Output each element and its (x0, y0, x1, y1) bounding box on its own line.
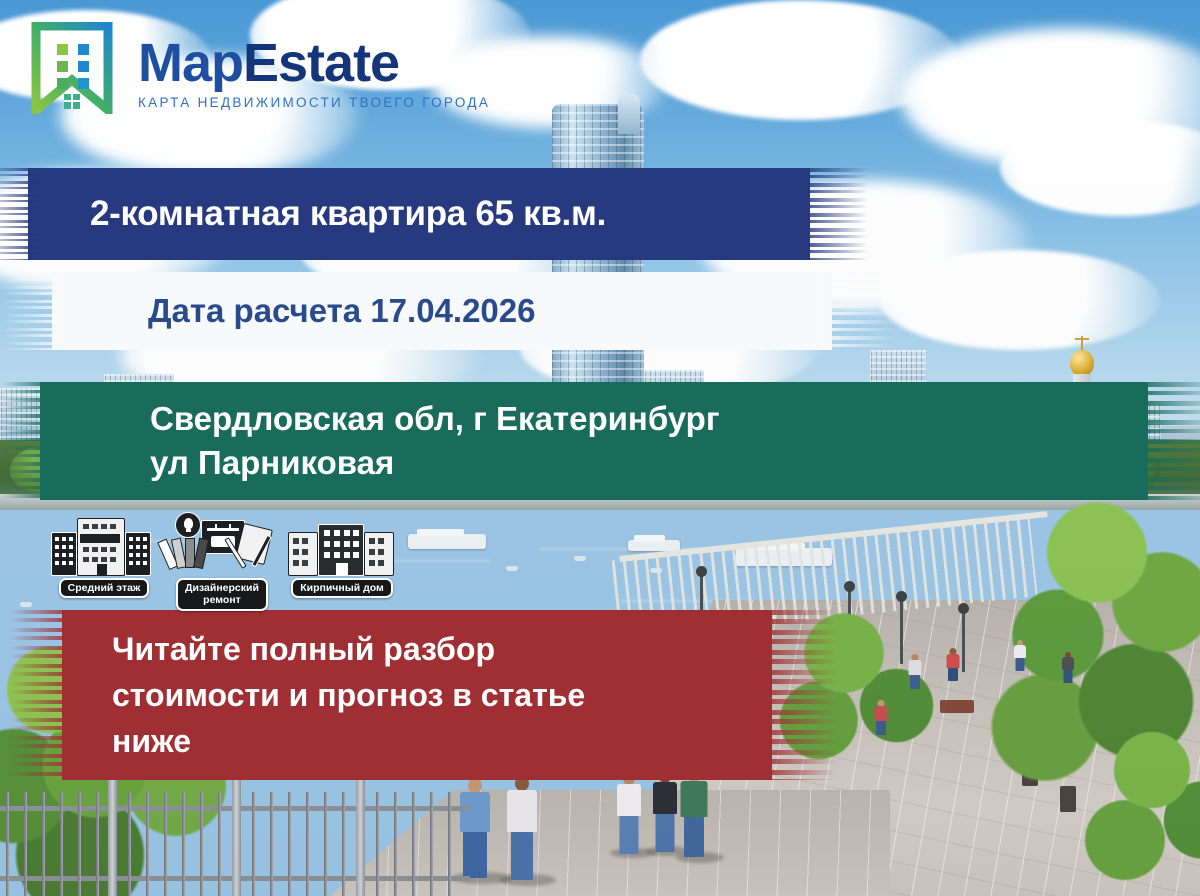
cta-line-2: стоимости и прогноз в статье (112, 672, 585, 718)
boat-icon (628, 540, 680, 551)
cta-text: Читайте полный разбор стоимости и прогно… (112, 626, 585, 764)
bookmark-building-icon (30, 22, 114, 114)
boat-icon (574, 556, 586, 561)
logo-wordmark: MapEstate (138, 36, 490, 90)
pedestrian (1060, 652, 1076, 682)
badge-brick-house: Кирпичный дом (282, 518, 402, 598)
badge-mid-floor: Средний этаж (44, 516, 164, 598)
pedestrian (612, 772, 646, 854)
badge-label: Кирпичный дом (291, 578, 393, 598)
boat-icon (506, 566, 518, 571)
badge-designer-renovation: Дизайнерский ремонт (162, 512, 282, 611)
pedestrian (502, 776, 542, 880)
pedestrian (944, 648, 962, 680)
logo-tagline: КАРТА НЕДВИЖИМОСТИ ТВОЕГО ГОРОДА (138, 95, 490, 110)
address-banner: Свердловская обл, г Екатеринбург ул Парн… (40, 382, 1148, 500)
cta-banner[interactable]: Читайте полный разбор стоимости и прогно… (62, 610, 772, 780)
pedestrian (906, 654, 924, 688)
brick-house-icon (286, 518, 398, 578)
cta-line-3: ниже (112, 718, 585, 764)
logo-word-estate: Estate (243, 33, 399, 93)
badge-label: Дизайнерский ремонт (176, 578, 268, 611)
boat-icon (408, 534, 486, 549)
designer-renovation-icon (163, 512, 281, 578)
address-line-2: ул Парниковая (150, 441, 720, 485)
tree (1080, 700, 1200, 896)
property-title: 2-комнатная квартира 65 кв.м. (90, 194, 606, 234)
foreground-fence (0, 792, 470, 896)
date-banner: Дата расчета 17.04.2026 (52, 272, 832, 350)
brand-logo[interactable]: MapEstate КАРТА НЕДВИЖИМОСТИ ТВОЕГО ГОРО… (30, 22, 530, 122)
poster-canvas: MapEstate КАРТА НЕДВИЖИМОСТИ ТВОЕГО ГОРО… (0, 0, 1200, 896)
calculation-date: Дата расчета 17.04.2026 (148, 292, 535, 330)
pedestrian (676, 768, 712, 856)
logo-word-map: Map (138, 33, 243, 93)
feature-badges: Средний этаж Дизайнерский ремонт (44, 516, 384, 608)
badge-label: Средний этаж (59, 578, 150, 598)
mid-floor-building-icon (49, 516, 159, 578)
cta-line-1: Читайте полный разбор (112, 626, 585, 672)
pedestrian (872, 700, 890, 734)
pedestrian (1012, 640, 1028, 670)
property-banner: 2-комнатная квартира 65 кв.м. (28, 168, 810, 260)
address-line-1: Свердловская обл, г Екатеринбург (150, 397, 720, 441)
address-text: Свердловская обл, г Екатеринбург ул Парн… (150, 397, 720, 484)
